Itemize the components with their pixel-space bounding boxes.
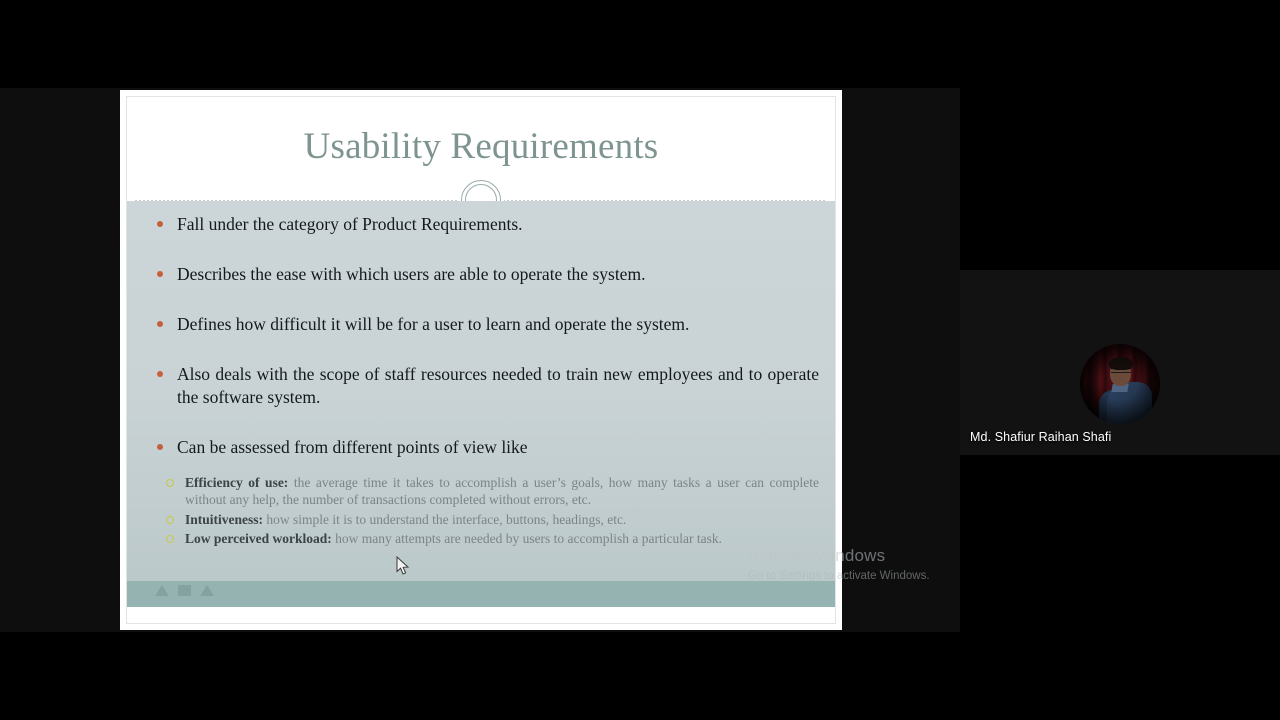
slide-frame: Usability Requirements Fall under the ca… xyxy=(126,96,836,624)
bullet-item: Can be assessed from different points of… xyxy=(143,436,819,459)
sub-bullet-item: Low perceived workload: how many attempt… xyxy=(163,530,819,548)
sub-bullet-item: Intuitiveness: how simple it is to under… xyxy=(163,511,819,529)
slide-footer-white-band xyxy=(127,607,835,623)
sub-bullet-list: Efficiency of use: the average time it t… xyxy=(143,474,819,548)
sub-bullet-text: how many attempts are needed by users to… xyxy=(332,531,722,546)
letterbox-top xyxy=(0,0,960,88)
participant-name-label: Md. Shafiur Raihan Shafi xyxy=(970,430,1111,444)
sub-bullet-label: Low perceived workload: xyxy=(185,531,332,546)
sub-bullet-label: Efficiency of use: xyxy=(185,475,288,490)
presentation-slide: Usability Requirements Fall under the ca… xyxy=(120,90,842,630)
slide-footer-decoration-icon xyxy=(155,585,214,596)
slide-title: Usability Requirements xyxy=(127,125,835,168)
sub-bullet-text: how simple it is to understand the inter… xyxy=(263,512,626,527)
screen-share-meeting-window: Usability Requirements Fall under the ca… xyxy=(0,0,1280,720)
slide-footer-bar xyxy=(127,581,835,607)
sub-bullet-label: Intuitiveness: xyxy=(185,512,263,527)
bullet-item: Fall under the category of Product Requi… xyxy=(143,213,819,236)
participant-video-tile[interactable]: Md. Shafiur Raihan Shafi xyxy=(960,270,1280,455)
letterbox-bottom xyxy=(0,632,960,720)
sub-bullet-item: Efficiency of use: the average time it t… xyxy=(163,474,819,509)
bullet-item: Defines how difficult it will be for a u… xyxy=(143,313,819,336)
slide-body: Fall under the category of Product Requi… xyxy=(127,201,835,623)
person-avatar-icon xyxy=(1080,344,1160,424)
bullet-list: Fall under the category of Product Requi… xyxy=(143,213,819,460)
avatar-vignette xyxy=(1080,344,1160,424)
bullet-item: Describes the ease with which users are … xyxy=(143,263,819,286)
bullet-item: Also deals with the scope of staff resou… xyxy=(143,363,819,409)
